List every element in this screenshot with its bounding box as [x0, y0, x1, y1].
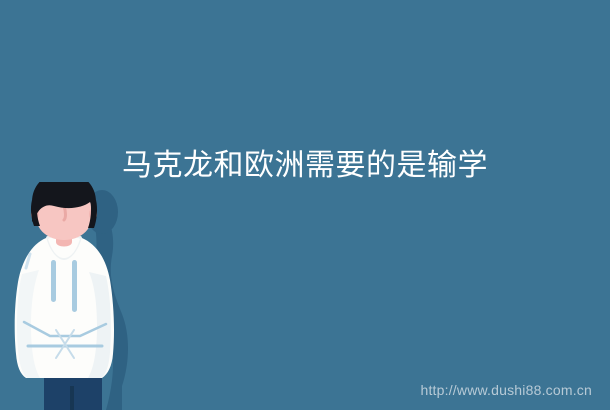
nose-icon — [64, 206, 66, 220]
page-title: 马克龙和欧洲需要的是输学 — [0, 146, 610, 186]
watermark-url: http://www.dushi88.com.cn — [420, 382, 592, 398]
character-illustration — [6, 182, 136, 410]
poster-canvas: 马克龙和欧洲需要的是输学 — [0, 0, 610, 410]
